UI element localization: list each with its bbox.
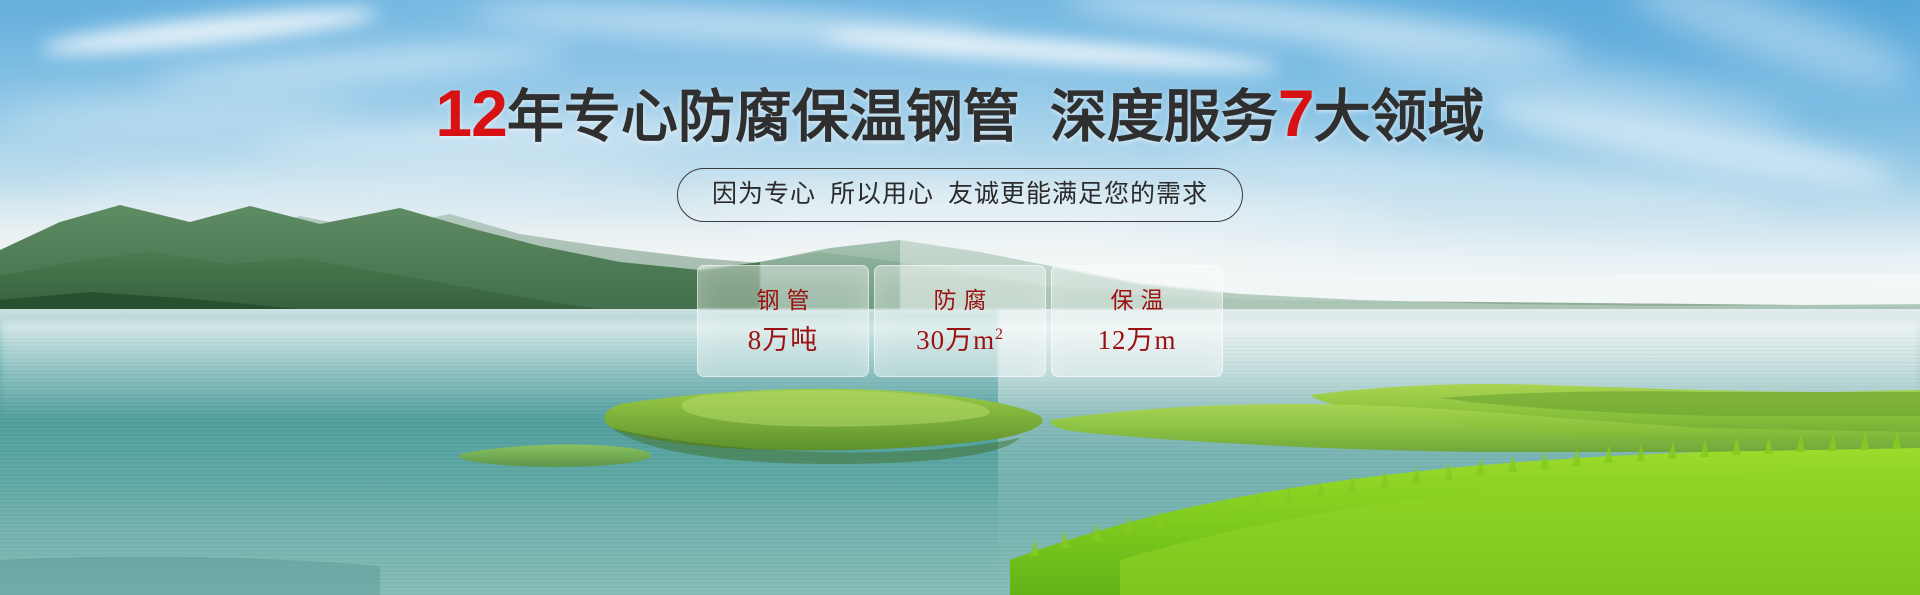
stat-card-value: 8万吨	[748, 325, 819, 355]
headline-part1: 年专心防腐保温钢管	[507, 85, 1020, 149]
subtitle-pill: 因为专心所以用心友诚更能满足您的需求	[677, 168, 1243, 222]
stat-card-label: 防腐	[927, 287, 994, 313]
headline-field-number: 7	[1278, 76, 1314, 150]
headline-part3: 大领域	[1314, 85, 1485, 149]
headline-part2: 深度服务	[1050, 85, 1278, 149]
stat-card-value-base: 8万吨	[748, 325, 819, 355]
subtitle-segment-1: 因为专心	[712, 180, 816, 208]
stat-card-value: 30万m2	[916, 325, 1004, 355]
stat-card-steel-pipe: 钢管 8万吨	[697, 265, 869, 377]
stat-card-value-base: 12万m	[1097, 325, 1176, 355]
stat-card-insulation: 保温 12万m	[1051, 265, 1223, 377]
stat-card-value-base: 30万m	[916, 325, 995, 355]
headline-year-number: 12	[435, 76, 506, 150]
stat-card-label: 保温	[1104, 287, 1171, 313]
subtitle-segment-2: 所以用心	[830, 180, 934, 208]
stat-card-anticorrosion: 防腐 30万m2	[874, 265, 1046, 377]
banner-content: 12年专心防腐保温钢管深度服务7大领域 因为专心所以用心友诚更能满足您的需求 钢…	[0, 0, 1920, 595]
stat-card-value: 12万m	[1097, 325, 1176, 355]
subtitle-segment-3: 友诚更能满足您的需求	[948, 180, 1208, 208]
headline: 12年专心防腐保温钢管深度服务7大领域	[0, 78, 1920, 152]
hero-banner: 12年专心防腐保温钢管深度服务7大领域 因为专心所以用心友诚更能满足您的需求 钢…	[0, 0, 1920, 595]
stat-card-value-superscript: 2	[995, 326, 1004, 343]
stat-card-label: 钢管	[750, 287, 817, 313]
stat-card-row: 钢管 8万吨 防腐 30万m2 保温 12万m	[697, 265, 1223, 377]
